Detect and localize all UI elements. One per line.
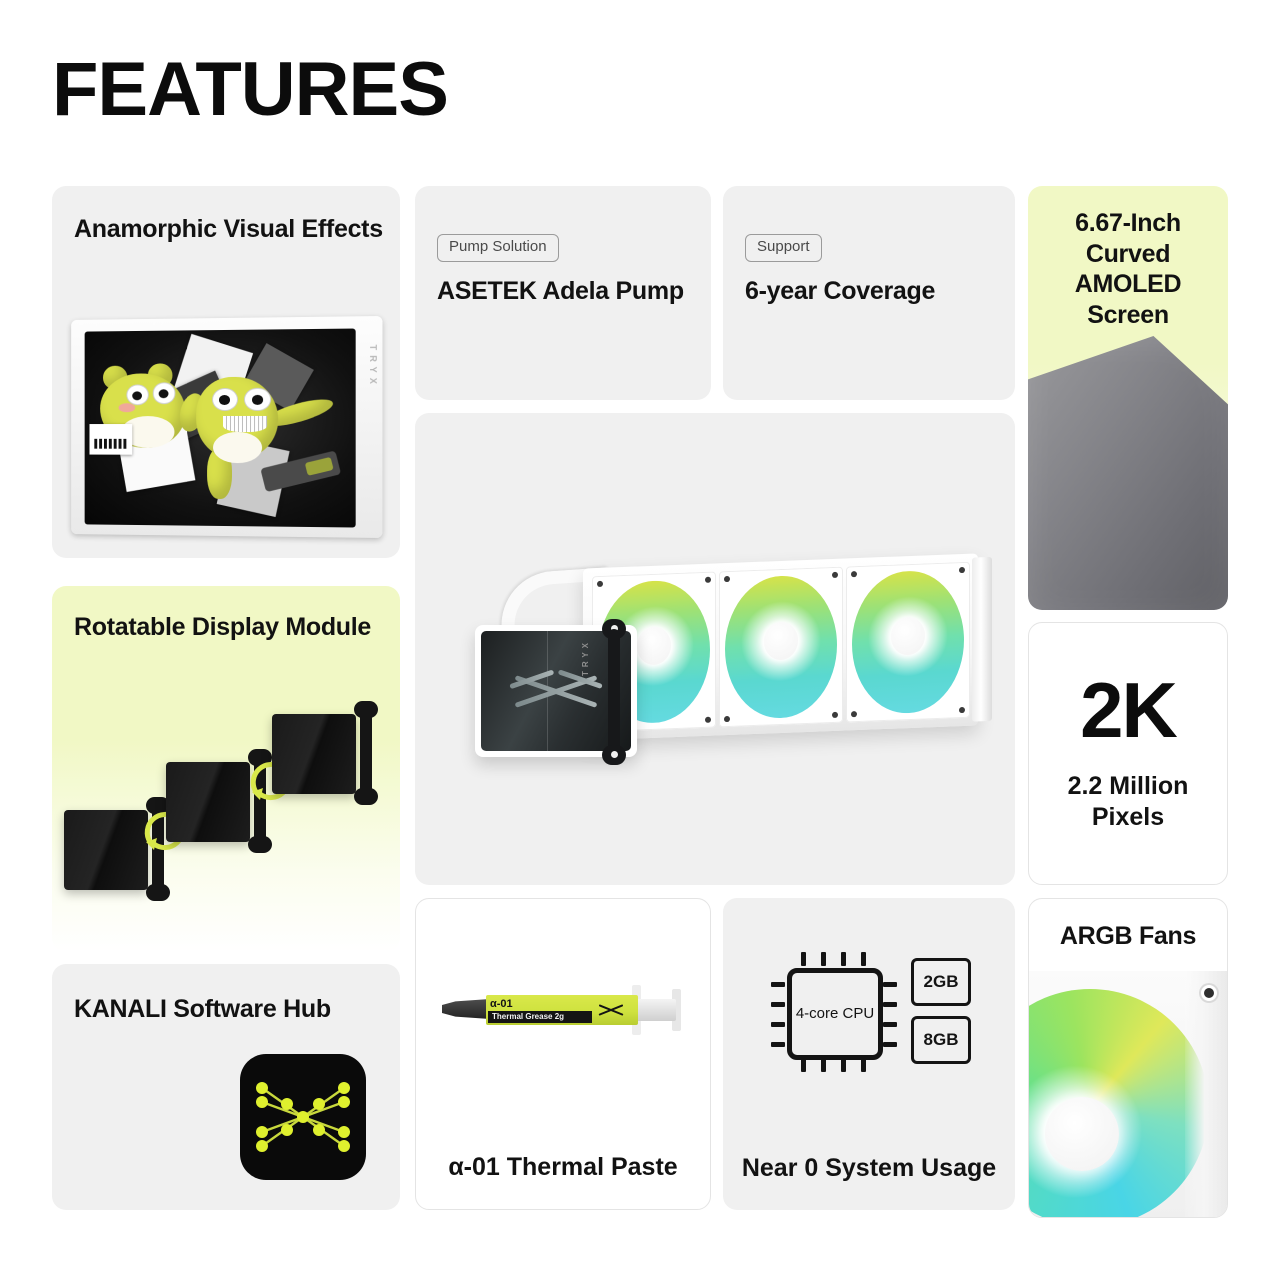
card-support[interactable]: Support 6-year Coverage (723, 186, 1015, 400)
radiator-fan (719, 567, 843, 728)
tryx-brand-mark: TRYX (581, 639, 590, 676)
syringe-product-label: α-01 (490, 998, 513, 1010)
curved-screen-illustration (1028, 336, 1228, 610)
tryx-brand-mark: TRYX (368, 345, 378, 390)
card-title: 6-year Coverage (745, 276, 1007, 307)
card-pump-solution[interactable]: Pump Solution ASETEK Adela Pump (415, 186, 711, 400)
character-nose (119, 403, 135, 413)
memory-label: 2GB (914, 972, 968, 992)
display-frame: TRYX (71, 316, 382, 538)
fan-argb-ring (1029, 989, 1209, 1218)
card-product-hero[interactable]: TRYX (415, 413, 1015, 885)
card-title: ARGB Fans (1029, 921, 1227, 952)
radiator-end-cap (972, 557, 992, 722)
fan-corner-badge-icon (1199, 983, 1219, 1003)
syringe-plunger (634, 999, 676, 1021)
memory-box-2gb: 2GB (911, 958, 971, 1006)
character-eye (245, 389, 270, 411)
argb-fan-illustration (1029, 971, 1228, 1218)
aio-cooler-illustration: TRYX (415, 413, 1015, 885)
display-screen (85, 329, 356, 528)
memory-label: 8GB (914, 1030, 968, 1050)
fan-hub (1045, 1097, 1119, 1171)
syringe-spec-label: Thermal Grease 2g (488, 1011, 592, 1023)
card-anamorphic-visual-effects[interactable]: Anamorphic Visual Effects TRYX (52, 186, 400, 558)
tag-decor (90, 424, 132, 455)
anamorphic-display-illustration: TRYX (60, 308, 392, 548)
card-title: Anamorphic Visual Effects (74, 214, 383, 245)
card-title: 6.67-Inch Curved AMOLED Screen (1038, 208, 1218, 330)
syringe-tip (442, 999, 490, 1019)
card-caption: Near 0 System Usage (737, 1152, 1001, 1184)
cpu-label: 4-core CPU (792, 1005, 878, 1023)
radiator (583, 553, 978, 740)
card-title: Rotatable Display Module (74, 612, 394, 643)
card-caption: α-01 Thermal Paste (430, 1151, 696, 1183)
character-eye (153, 383, 174, 403)
cpu-chip-icon: 4-core CPU 2GB 8GB (765, 950, 977, 1074)
cpu-core-box: 4-core CPU (787, 968, 883, 1060)
kanali-app-icon[interactable] (240, 1054, 366, 1180)
support-category-chip: Support (745, 234, 822, 262)
radiator-fan (846, 562, 970, 723)
card-system-usage[interactable]: 4-core CPU 2GB 8GB Near 0 System Usage (723, 898, 1015, 1210)
card-kanali-software-hub[interactable]: KANALI Software Hub (52, 964, 400, 1210)
character-belly (213, 432, 262, 464)
page-title: FEATURES (52, 52, 448, 128)
syringe-illustration: α-01 Thermal Grease 2g (434, 977, 696, 1041)
card-argb-fans[interactable]: ARGB Fans (1028, 898, 1228, 1218)
mounting-bracket (601, 619, 627, 765)
character-grin (223, 416, 267, 432)
resolution-value: 2K (1029, 671, 1227, 749)
syringe-body: α-01 Thermal Grease 2g (486, 995, 638, 1025)
card-resolution[interactable]: 2K 2.2 Million Pixels (1028, 622, 1228, 885)
fan-frame (1185, 971, 1228, 1218)
memory-box-8gb: 8GB (911, 1016, 971, 1064)
resolution-subtitle: 2.2 Million Pixels (1041, 771, 1215, 834)
pump-category-chip: Pump Solution (437, 234, 559, 262)
card-title: KANALI Software Hub (74, 994, 374, 1025)
features-page: FEATURES Anamorphic Visual Effects TRYX (0, 0, 1280, 1280)
card-amoled-screen[interactable]: 6.67-Inch Curved AMOLED Screen (1028, 186, 1228, 610)
card-thermal-paste[interactable]: α-01 Thermal Grease 2g α-01 Thermal Past… (415, 898, 711, 1210)
card-title: ASETEK Adela Pump (437, 276, 687, 307)
rotation-illustration (58, 702, 396, 946)
tryx-x-logo-icon (598, 1002, 624, 1019)
card-rotatable-display-module[interactable]: Rotatable Display Module (52, 586, 400, 952)
